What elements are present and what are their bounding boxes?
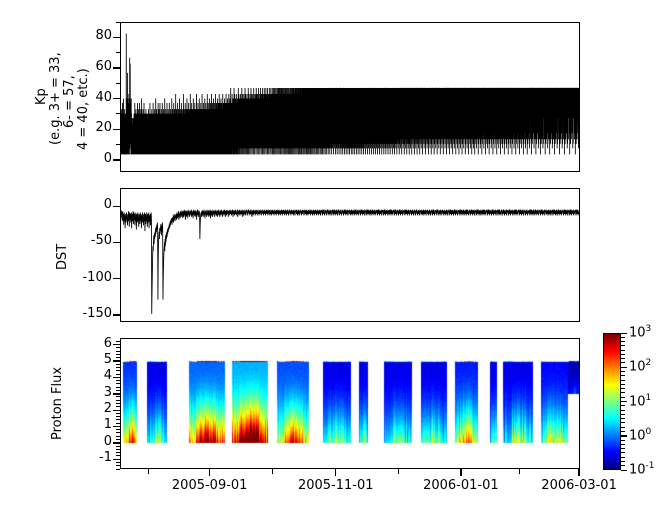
pf-y-minor-tick bbox=[116, 390, 120, 391]
xaxis-label-2: 2006-01-01 bbox=[406, 478, 516, 493]
kp-y-label-0: 0 bbox=[62, 151, 112, 166]
pf-y-minor-tick bbox=[116, 439, 120, 440]
kp-y-minor-tick bbox=[116, 159, 120, 160]
figure-root: Kp (e.g. 3+ = 33, 6- = 57, 4 = 40, etc.)… bbox=[0, 0, 665, 523]
colorbar-minor-tick bbox=[621, 337, 625, 338]
colorbar-label-4: 10-1 bbox=[629, 461, 655, 477]
colorbar-label-exponent: 3 bbox=[646, 324, 652, 334]
colorbar-minor-tick bbox=[621, 350, 625, 351]
colorbar-minor-tick bbox=[621, 457, 625, 458]
pf-y-minor-tick bbox=[116, 403, 120, 404]
pf-y-minor-tick bbox=[116, 462, 120, 463]
colorbar-label-3: 100 bbox=[629, 427, 651, 443]
colorbar-minor-tick bbox=[621, 435, 625, 436]
pf-y-minor-tick bbox=[116, 357, 120, 358]
colorbar-minor-tick bbox=[621, 465, 625, 466]
pf-y-label-6: 5 bbox=[62, 352, 112, 367]
dst-y-tick-1 bbox=[113, 242, 120, 243]
pf-y-minor-tick bbox=[116, 410, 120, 411]
xaxis-tick-0 bbox=[209, 469, 210, 476]
colorbar-minor-tick bbox=[621, 444, 625, 445]
pf-y-label-4: 3 bbox=[62, 385, 112, 400]
kp-y-minor-tick bbox=[116, 67, 120, 68]
pf-y-minor-tick bbox=[116, 364, 120, 365]
pf-y-label-3: 2 bbox=[62, 401, 112, 416]
pf-y-minor-tick bbox=[116, 436, 120, 437]
dst-y-label-0: 0 bbox=[62, 197, 112, 212]
colorbar-label-mantissa: 10 bbox=[629, 325, 646, 340]
colorbar-minor-tick bbox=[621, 452, 625, 453]
pf-y-minor-tick bbox=[116, 455, 120, 456]
kp-y-minor-tick bbox=[116, 37, 120, 38]
pf-y-minor-tick bbox=[116, 469, 120, 470]
xaxis-tick-3 bbox=[578, 469, 579, 476]
pf-y-minor-tick bbox=[116, 374, 120, 375]
kp-y-minor-tick bbox=[116, 22, 120, 23]
colorbar-label-mantissa: 10 bbox=[629, 360, 646, 375]
dst-y-tick-3 bbox=[113, 314, 120, 315]
colorbar-minor-tick bbox=[621, 375, 625, 376]
colorbar-label-exponent: 0 bbox=[646, 427, 652, 437]
pf-y-minor-tick bbox=[116, 465, 120, 466]
colorbar-minor-tick bbox=[621, 470, 625, 471]
xaxis-minor-tick bbox=[272, 469, 273, 474]
colorbar-minor-tick bbox=[621, 354, 625, 355]
pf-y-minor-tick bbox=[116, 452, 120, 453]
kp-y-label-4: 80 bbox=[62, 28, 112, 43]
pf-y-minor-tick bbox=[116, 387, 120, 388]
pf-y-minor-tick bbox=[116, 367, 120, 368]
pf-y-minor-tick bbox=[116, 396, 120, 397]
xaxis-label-3: 2006-03-01 bbox=[524, 478, 634, 493]
pf-y-minor-tick bbox=[116, 393, 120, 394]
kp-y-minor-tick bbox=[116, 113, 120, 114]
pf-y-minor-tick bbox=[116, 344, 120, 345]
pf-y-minor-tick bbox=[116, 429, 120, 430]
colorbar-label-mantissa: 10 bbox=[629, 394, 646, 409]
pf-y-label-2: 1 bbox=[62, 417, 112, 432]
colorbar-minor-tick bbox=[621, 380, 625, 381]
pf-y-minor-tick bbox=[116, 406, 120, 407]
pf-y-minor-tick bbox=[116, 426, 120, 427]
dst-y-tick-2 bbox=[113, 278, 120, 279]
colorbar-label-exponent: -1 bbox=[646, 461, 655, 471]
dst-y-label-1: -50 bbox=[62, 233, 112, 248]
colorbar-minor-tick bbox=[621, 397, 625, 398]
xaxis-tick-2 bbox=[460, 469, 461, 476]
colorbar-label-exponent: 2 bbox=[646, 358, 652, 368]
colorbar-minor-tick bbox=[621, 345, 625, 346]
xaxis-minor-tick bbox=[398, 469, 399, 474]
colorbar-minor-tick bbox=[621, 401, 625, 402]
colorbar-minor-tick bbox=[621, 392, 625, 393]
colorbar-minor-tick bbox=[621, 358, 625, 359]
pf-y-minor-tick bbox=[116, 446, 120, 447]
colorbar-minor-tick bbox=[621, 384, 625, 385]
colorbar-minor-tick bbox=[621, 371, 625, 372]
colorbar-minor-tick bbox=[621, 431, 625, 432]
kp-y-minor-tick bbox=[116, 144, 120, 145]
kp-y-label-3: 60 bbox=[62, 59, 112, 74]
pf-y-minor-tick bbox=[116, 413, 120, 414]
colorbar-minor-tick bbox=[621, 333, 625, 334]
pf-y-minor-tick bbox=[116, 380, 120, 381]
colorbar-minor-tick bbox=[621, 405, 625, 406]
kp-y-minor-tick bbox=[116, 83, 120, 84]
pf-y-minor-tick bbox=[116, 347, 120, 348]
xaxis-label-1: 2005-11-01 bbox=[281, 478, 391, 493]
dst-y-tick-0 bbox=[113, 206, 120, 207]
pf-y-minor-tick bbox=[116, 442, 120, 443]
pf-y-minor-tick bbox=[116, 377, 120, 378]
colorbar-minor-tick bbox=[621, 448, 625, 449]
pf-y-minor-tick bbox=[116, 360, 120, 361]
pf-y-minor-tick bbox=[116, 400, 120, 401]
colorbar-label-mantissa: 10 bbox=[629, 428, 646, 443]
pf-y-minor-tick bbox=[116, 419, 120, 420]
xaxis-label-0: 2005-09-01 bbox=[155, 478, 265, 493]
pf-y-label-5: 4 bbox=[62, 368, 112, 383]
xaxis-minor-tick bbox=[519, 469, 520, 474]
kp-y-minor-tick bbox=[116, 52, 120, 53]
colorbar-minor-tick bbox=[621, 461, 625, 462]
axis-tick-layer: 0204060800-50-100-150-101234562005-09-01… bbox=[0, 0, 665, 523]
colorbar-minor-tick bbox=[621, 440, 625, 441]
pf-y-minor-tick bbox=[116, 459, 120, 460]
colorbar-minor-tick bbox=[621, 410, 625, 411]
pf-y-minor-tick bbox=[116, 341, 120, 342]
colorbar-minor-tick bbox=[621, 367, 625, 368]
kp-y-label-2: 40 bbox=[62, 90, 112, 105]
pf-y-minor-tick bbox=[116, 432, 120, 433]
xaxis-tick-1 bbox=[335, 469, 336, 476]
colorbar-label-mantissa: 10 bbox=[629, 462, 646, 477]
colorbar-minor-tick bbox=[621, 388, 625, 389]
colorbar-label-1: 102 bbox=[629, 358, 651, 374]
pf-y-label-1: 0 bbox=[62, 434, 112, 449]
pf-y-minor-tick bbox=[116, 423, 120, 424]
kp-y-minor-tick bbox=[116, 129, 120, 130]
pf-y-minor-tick bbox=[116, 449, 120, 450]
xaxis-minor-tick bbox=[148, 469, 149, 474]
pf-y-label-0: -1 bbox=[62, 450, 112, 465]
colorbar-minor-tick bbox=[621, 362, 625, 363]
colorbar-minor-tick bbox=[621, 427, 625, 428]
pf-y-minor-tick bbox=[116, 416, 120, 417]
dst-y-label-3: -150 bbox=[62, 306, 112, 321]
pf-y-label-7: 6 bbox=[62, 336, 112, 351]
colorbar-minor-tick bbox=[621, 418, 625, 419]
colorbar-label-exponent: 1 bbox=[646, 393, 652, 403]
pf-y-minor-tick bbox=[116, 370, 120, 371]
pf-y-minor-tick bbox=[116, 354, 120, 355]
colorbar-minor-tick bbox=[621, 341, 625, 342]
colorbar-minor-tick bbox=[621, 414, 625, 415]
kp-y-minor-tick bbox=[116, 98, 120, 99]
pf-y-minor-tick bbox=[116, 351, 120, 352]
colorbar-label-2: 101 bbox=[629, 393, 651, 409]
kp-y-label-1: 20 bbox=[62, 120, 112, 135]
colorbar-minor-tick bbox=[621, 422, 625, 423]
colorbar-label-0: 103 bbox=[629, 324, 651, 340]
dst-y-label-2: -100 bbox=[62, 270, 112, 285]
pf-y-minor-tick bbox=[116, 383, 120, 384]
